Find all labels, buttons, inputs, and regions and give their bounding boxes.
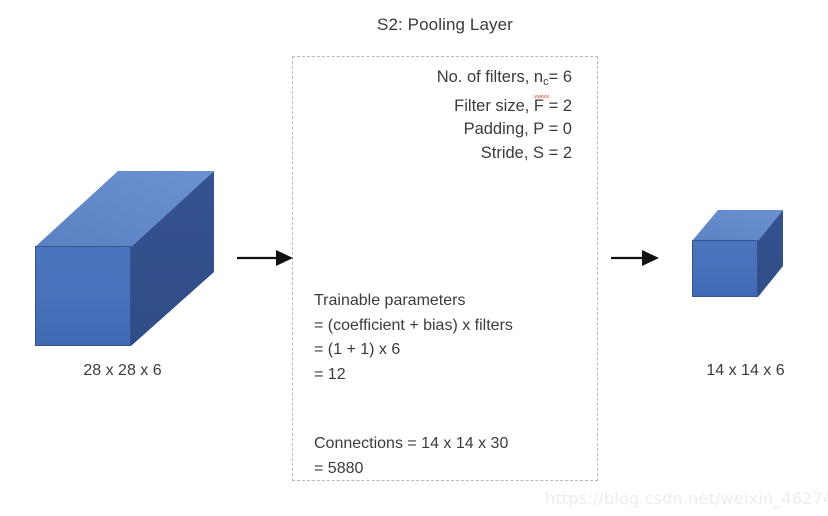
arrow-right-icon [236, 247, 294, 269]
trainable-line-2: = (1 + 1) x 6 [314, 338, 584, 363]
input-cuboid-front-face [35, 246, 131, 346]
param-filter-size: Filter size, F = 2 [300, 95, 572, 119]
watermark-text: https://blog.csdn.net/weixin_46274168 [545, 489, 828, 508]
param-num-filters-suffix: = 6 [549, 68, 572, 86]
param-num-filters-symbol: n [534, 68, 543, 86]
param-num-filters-symbol-group: nc [534, 66, 549, 95]
output-cuboid-front-face [692, 240, 758, 297]
arrow-right-icon [610, 247, 660, 269]
input-feature-map-cuboid [30, 168, 215, 350]
output-feature-map-cuboid [688, 208, 784, 300]
page-title: S2: Pooling Layer [292, 15, 598, 35]
input-dimension-label: 28 x 28 x 6 [25, 362, 220, 380]
connections-line-0: Connections = 14 x 14 x 30 [314, 432, 584, 457]
param-stride: Stride, S = 2 [300, 142, 572, 166]
output-dimension-label: 14 x 14 x 6 [668, 362, 823, 380]
connections-line-1: = 5880 [314, 457, 584, 482]
param-num-filters-prefix: No. of filters, [437, 68, 534, 86]
param-num-filters-subscript: c [543, 76, 549, 88]
connections-block: Connections = 14 x 14 x 30 = 5880 [314, 432, 584, 481]
trainable-line-3: = 12 [314, 363, 584, 388]
trainable-line-0: Trainable parameters [314, 289, 584, 314]
trainable-line-1: = (coefficient + bias) x filters [314, 314, 584, 339]
trainable-parameters-block: Trainable parameters = (coefficient + bi… [314, 289, 584, 387]
param-num-filters: No. of filters, nc= 6 [300, 66, 572, 95]
hyperparameter-list: No. of filters, nc= 6 Filter size, F = 2… [300, 66, 572, 165]
param-padding: Padding, P = 0 [300, 118, 572, 142]
